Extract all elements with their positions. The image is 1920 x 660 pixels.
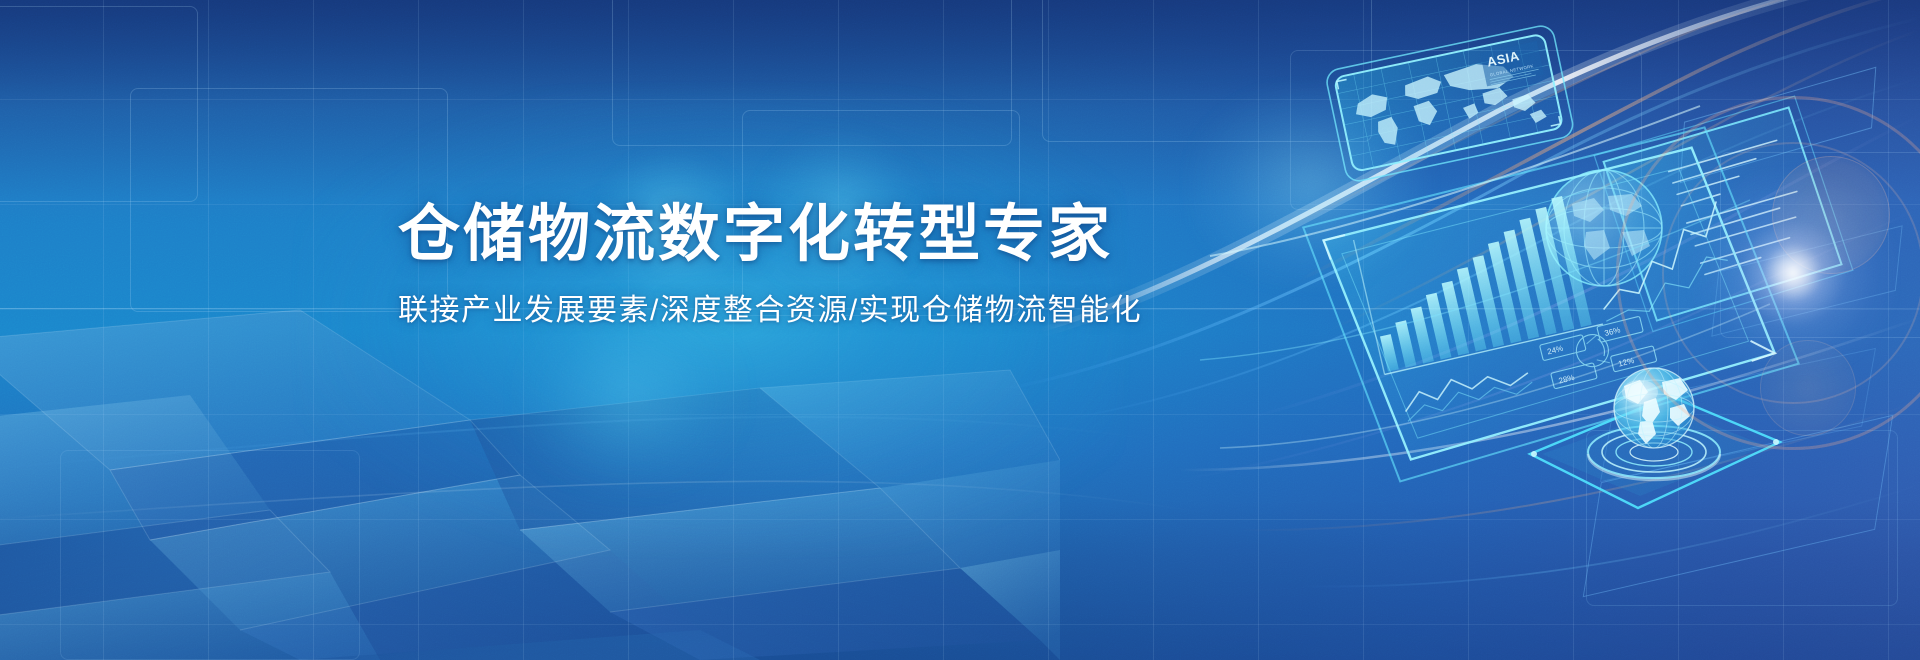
hero-text-block: 仓储物流数字化转型专家 联接产业发展要素/深度整合资源/实现仓储物流智能化: [0, 200, 1920, 330]
page-title: 仓储物流数字化转型专家: [398, 200, 1920, 269]
hero-banner: ASIA GLOBAL NETWORK: [0, 0, 1920, 660]
page-subtitle: 联接产业发展要素/深度整合资源/实现仓储物流智能化: [398, 291, 1920, 330]
